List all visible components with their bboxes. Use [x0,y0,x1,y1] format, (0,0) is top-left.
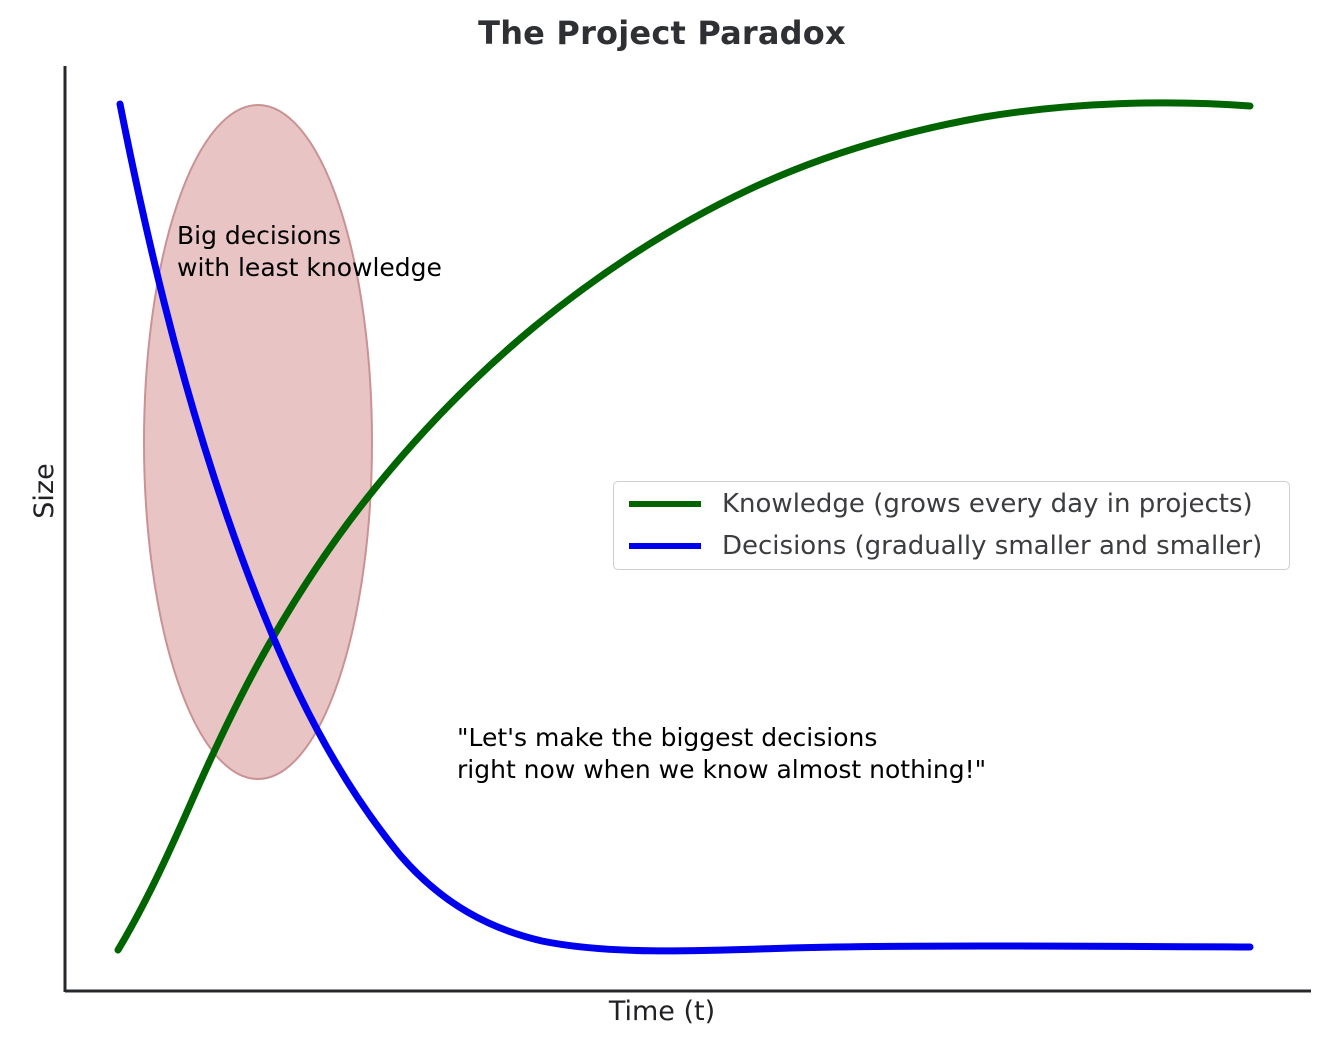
chart-legend: Knowledge (grows every day in projects) … [613,481,1290,570]
legend-label-knowledge: Knowledge (grows every day in projects) [722,489,1253,519]
highlight-ellipse [144,105,372,779]
annotation-quote: "Let's make the biggest decisions right … [457,722,986,785]
legend-item-knowledge: Knowledge (grows every day in projects) [629,489,1253,519]
chart-figure: The Project Paradox Size Time (t) Big de… [0,0,1324,1054]
legend-swatch-decisions [629,543,701,549]
annotation-big-decisions: Big decisions with least knowledge [177,220,442,283]
legend-item-decisions: Decisions (gradually smaller and smaller… [629,531,1262,561]
legend-label-decisions: Decisions (gradually smaller and smaller… [722,531,1262,561]
legend-swatch-knowledge [629,501,701,507]
x-axis-label: Time (t) [0,996,1324,1027]
y-axis-label: Size [29,431,60,551]
